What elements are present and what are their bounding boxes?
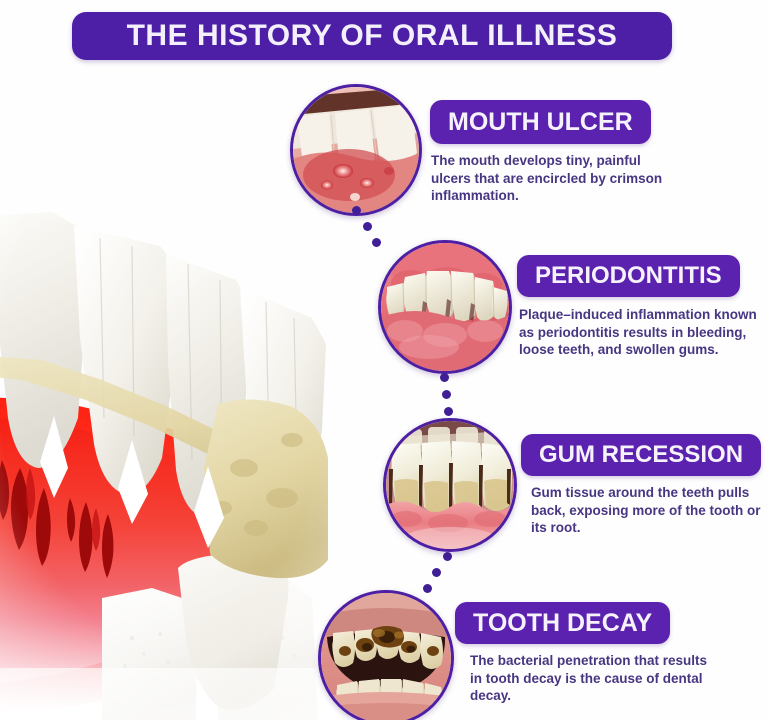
label-periodontitis-text: PERIODONTITIS	[517, 264, 740, 288]
label-periodontitis[interactable]: PERIODONTITIS	[517, 255, 740, 297]
photo-gum-recession	[383, 418, 517, 552]
label-gum-recession[interactable]: GUM RECESSION	[521, 434, 761, 476]
body-tooth-decay: The bacterial penetration that results i…	[470, 652, 720, 705]
body-gum-recession: Gum tissue around the teeth pulls back, …	[531, 484, 768, 537]
photo-periodontitis	[378, 240, 512, 374]
photo-tooth-decay	[318, 590, 454, 720]
dental-illustration	[0, 168, 342, 720]
label-mouth-ulcer-text: MOUTH ULCER	[430, 110, 651, 135]
label-gum-recession-text: GUM RECESSION	[521, 443, 761, 467]
label-tooth-decay-text: TOOTH DECAY	[455, 611, 670, 636]
label-mouth-ulcer[interactable]: MOUTH ULCER	[430, 100, 651, 144]
infographic-canvas: THE HISTORY OF ORAL ILLNESS	[0, 0, 768, 720]
label-tooth-decay[interactable]: TOOTH DECAY	[455, 602, 670, 644]
page-title: THE HISTORY OF ORAL ILLNESS	[127, 21, 618, 51]
body-mouth-ulcer: The mouth develops tiny, painful ulcers …	[431, 152, 676, 205]
body-periodontitis: Plaque–induced inflammation known as per…	[519, 306, 767, 359]
page-title-banner: THE HISTORY OF ORAL ILLNESS	[72, 12, 672, 60]
photo-mouth-ulcer	[290, 84, 422, 216]
